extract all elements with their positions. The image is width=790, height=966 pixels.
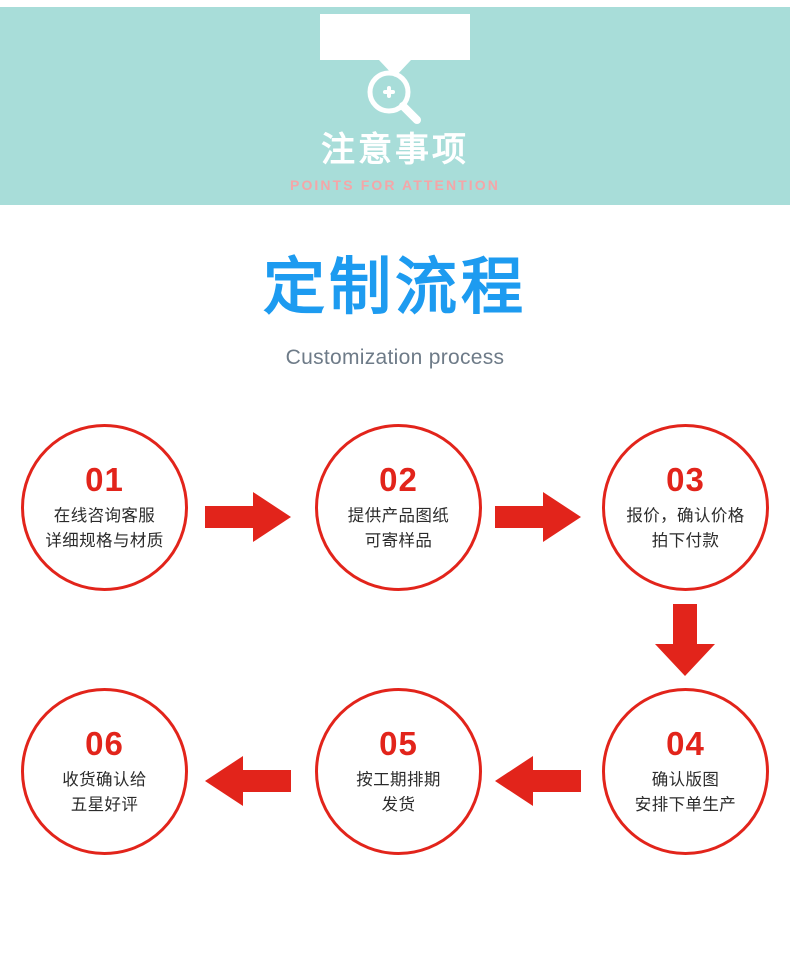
flow-step-04-label: 确认版图 安排下单生产 — [635, 768, 736, 818]
arrow-left-icon-step4-step5 — [495, 756, 581, 811]
attention-banner-inner: 注意事项 POINTS FOR ATTENTION — [0, 14, 790, 212]
flow-step-06: 06 收货确认给 五星好评 — [21, 688, 188, 855]
flow-step-03-number: 03 — [666, 462, 705, 498]
customization-process-flow: 01 在线咨询客服 详细规格与材质 02 提供产品图纸 可寄样品 03 报价，确… — [0, 420, 790, 920]
section-title: 定制流程 — [0, 252, 790, 324]
flow-step-02: 02 提供产品图纸 可寄样品 — [315, 424, 482, 591]
flow-step-03-label: 报价，确认价格 拍下付款 — [626, 504, 744, 554]
flow-step-01-label: 在线咨询客服 详细规格与材质 — [45, 504, 163, 554]
flow-step-05-label: 按工期排期 发货 — [356, 768, 441, 818]
flow-step-03: 03 报价，确认价格 拍下付款 — [602, 424, 769, 591]
arrow-right-icon-step2-step3 — [495, 492, 581, 547]
flow-step-02-number: 02 — [379, 462, 418, 498]
attention-banner: 注意事项 POINTS FOR ATTENTION — [0, 0, 790, 205]
banner-title: 注意事项 — [0, 130, 790, 170]
flow-step-04: 04 确认版图 安排下单生产 — [602, 688, 769, 855]
flow-step-06-label: 收货确认给 五星好评 — [62, 768, 147, 818]
section-subtitle: Customization process — [0, 346, 790, 370]
magnifier-plus-icon — [360, 68, 430, 126]
flow-step-05: 05 按工期排期 发货 — [315, 688, 482, 855]
arrow-left-icon-step5-step6 — [205, 756, 291, 811]
flow-step-02-label: 提供产品图纸 可寄样品 — [348, 504, 449, 554]
flow-step-04-number: 04 — [666, 726, 705, 762]
arrow-down-icon-step3-step4 — [655, 604, 715, 681]
arrow-right-icon-step1-step2 — [205, 492, 291, 547]
flow-step-06-number: 06 — [85, 726, 124, 762]
banner-ribbon-tab — [320, 14, 470, 60]
flow-step-05-number: 05 — [379, 726, 418, 762]
flow-step-01: 01 在线咨询客服 详细规格与材质 — [21, 424, 188, 591]
flow-step-01-number: 01 — [85, 462, 124, 498]
banner-subtitle: POINTS FOR ATTENTION — [0, 177, 790, 193]
